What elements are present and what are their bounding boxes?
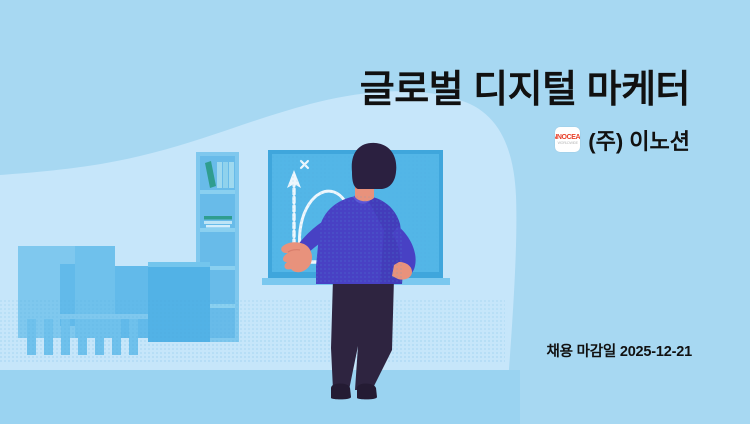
floor-stipple-texture xyxy=(0,300,505,362)
company-logo-mark: INNOCEAN xyxy=(555,134,580,141)
job-posting-banner: 글로벌 디지털 마케터 INNOCEAN WORLDWIDE (주) 이노션 채… xyxy=(0,0,750,424)
left-shoe-icon xyxy=(331,384,351,400)
right-shoe-icon xyxy=(357,384,377,400)
office-illustration xyxy=(0,0,520,424)
company-logo-icon: INNOCEAN WORLDWIDE xyxy=(555,127,580,152)
hand-icon xyxy=(281,242,312,272)
application-deadline: 채용 마감일 2025-12-21 xyxy=(546,340,692,361)
floor-surface xyxy=(0,370,520,424)
banner-text-block: 글로벌 디지털 마케터 INNOCEAN WORLDWIDE (주) 이노션 xyxy=(290,70,690,156)
company-logo-sub: WORLDWIDE xyxy=(558,142,578,146)
job-title: 글로벌 디지털 마케터 xyxy=(290,70,690,112)
company-name: (주) 이노션 xyxy=(588,124,690,156)
books-group xyxy=(205,161,234,188)
company-row: INNOCEAN WORLDWIDE (주) 이노션 xyxy=(290,124,690,156)
